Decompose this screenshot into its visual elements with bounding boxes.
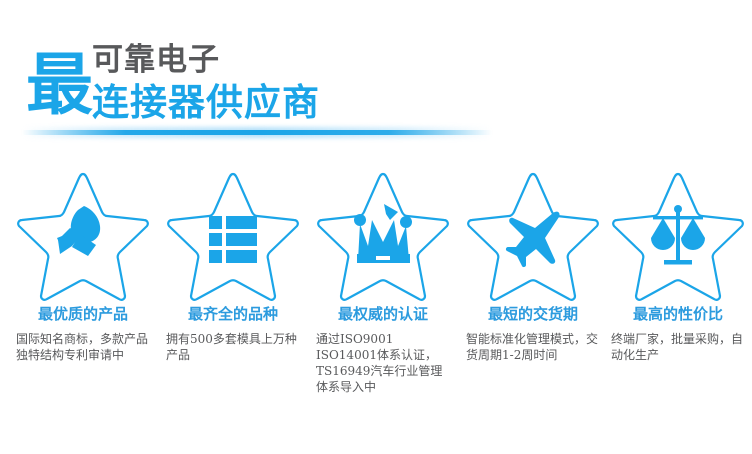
feature-body-2: 拥有500多套模具上万种产品 [166,331,304,363]
promo-banner: 最 可靠电子 连接器供应商 最优质的产品 国际知名商标，多款产品独特结构 [0,0,752,454]
gradient-divider [22,130,492,135]
star-outline [318,174,448,300]
feature-body-3: 通过ISO9001 ISO14001体系认证，TS16949汽车行业管理体系导入… [316,331,454,395]
star-frame-3 [310,168,456,303]
feature-item-variety: 最齐全的品种 拥有500多套模具上万种产品 [158,168,308,398]
feature-title-3: 最权威的认证 [308,306,458,323]
banner-header: 最 可靠电子 连接器供应商 [0,22,752,137]
feature-item-quality: 最优质的产品 国际知名商标，多款产品独特结构专利审请中 [8,168,158,398]
feature-title-1: 最优质的产品 [8,306,158,323]
star-frame-4 [460,168,606,303]
feature-item-certification: 最权威的认证 通过ISO9001 ISO14001体系认证，TS16949汽车行… [308,168,458,398]
feature-title-5: 最高的性价比 [603,306,752,323]
feature-title-2: 最齐全的品种 [158,306,308,323]
list-grid-icon [209,216,257,263]
feature-body-1: 国际知名商标，多款产品独特结构专利审请中 [16,331,154,363]
feature-body-5: 终端厂家，批量采购，自动化生产 [611,331,749,363]
header-big-character: 最 [26,52,92,119]
feature-body-4: 智能标准化管理模式，交货周期1-2周时间 [466,331,604,363]
feature-list: 最优质的产品 国际知名商标，多款产品独特结构专利审请中 最 [0,168,752,398]
star-frame-2 [160,168,306,303]
feature-item-value: 最高的性价比 终端厂家，批量采购，自动化生产 [603,168,752,398]
feature-title-4: 最短的交货期 [458,306,608,323]
header-subtitle-line1: 可靠电子 [92,45,220,76]
header-subtitle-line2: 连接器供应商 [92,84,320,121]
airplane-icon [506,212,560,267]
feature-item-delivery: 最短的交货期 智能标准化管理模式，交货周期1-2周时间 [458,168,608,398]
star-frame-1 [10,168,156,303]
star-frame-5 [605,168,751,303]
